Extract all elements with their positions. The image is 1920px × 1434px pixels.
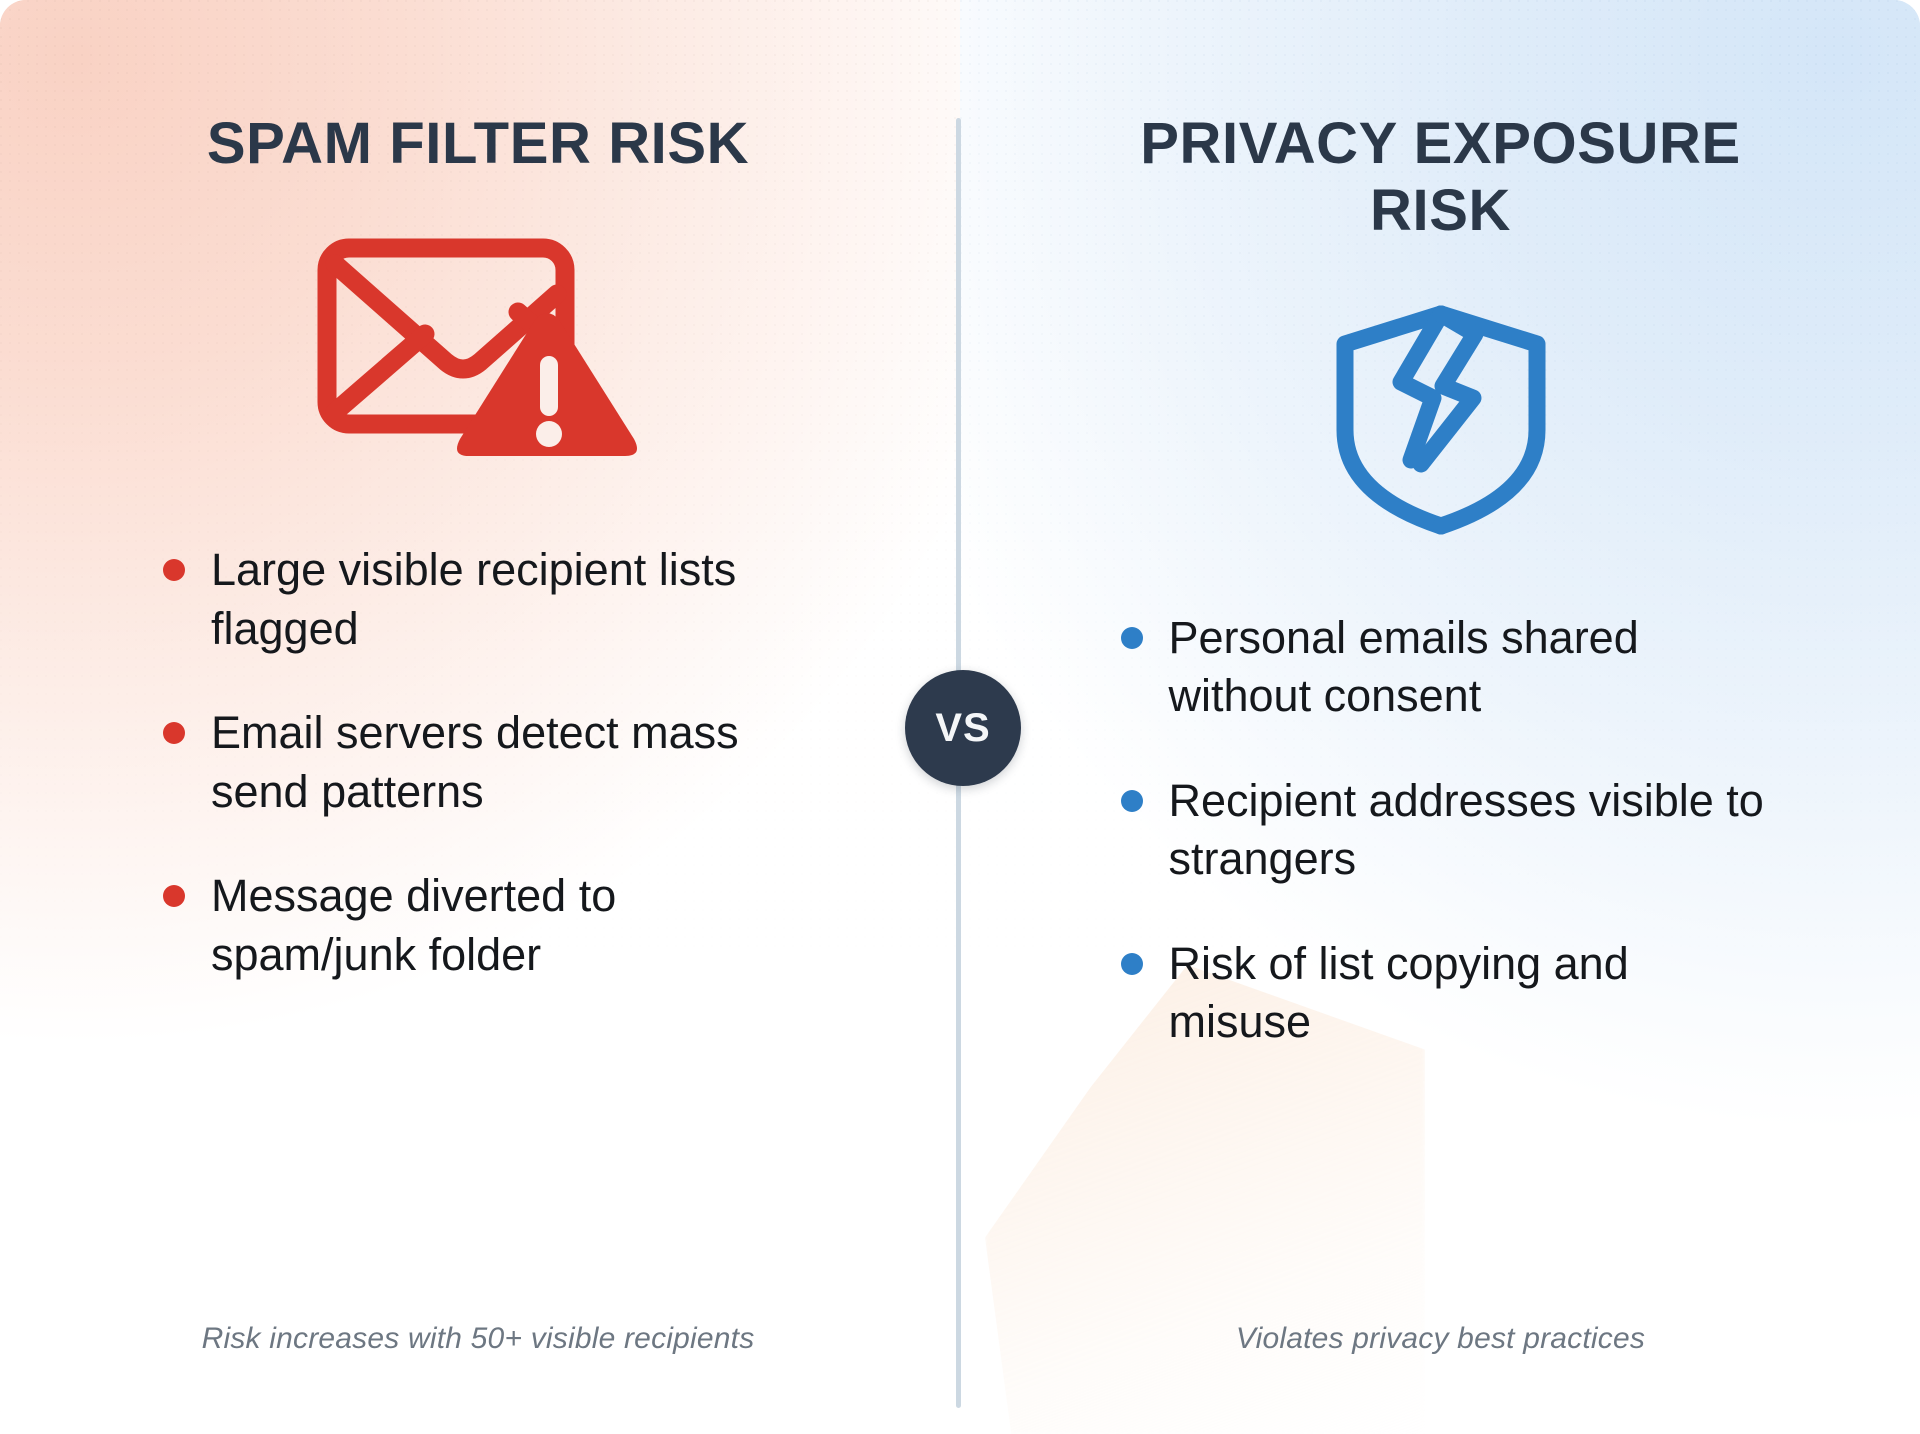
left-column-title: SPAM FILTER RISK (158, 110, 798, 177)
list-item: Large visible recipient lists flagged (163, 541, 803, 658)
bullet-text: Recipient addresses visible to strangers (1169, 772, 1781, 889)
list-item: Email servers detect mass send patterns (163, 704, 803, 821)
left-footnote: Risk increases with 50+ visible recipien… (0, 1322, 956, 1356)
bullet-text: Risk of list copying and misuse (1169, 935, 1781, 1052)
list-item: Personal emails shared without consent (1121, 609, 1781, 726)
bullet-dot-icon (1121, 627, 1143, 649)
list-item: Risk of list copying and misuse (1121, 935, 1781, 1052)
bullet-dot-icon (163, 722, 185, 744)
vs-badge-label: VS (935, 708, 990, 748)
bullet-text: Email servers detect mass send patterns (211, 704, 803, 821)
right-bullet-list: Personal emails shared without consent R… (1121, 609, 1781, 1052)
vs-badge: VS (905, 670, 1021, 786)
bullet-text: Message diverted to spam/junk folder (211, 867, 803, 984)
left-bullet-list: Large visible recipient lists flagged Em… (163, 541, 803, 984)
bullet-text: Large visible recipient lists flagged (211, 541, 803, 658)
comparison-infographic: SPAM FILTER RISK Large visible recipient… (0, 0, 1920, 1434)
left-column: SPAM FILTER RISK Large visible recipient… (0, 0, 956, 1434)
bullet-dot-icon (1121, 953, 1143, 975)
right-column: PRIVACY EXPOSURE RISK Personal emails sh… (961, 0, 1920, 1434)
bullet-dot-icon (163, 559, 185, 581)
envelope-warning-icon (298, 225, 658, 475)
list-item: Message diverted to spam/junk folder (163, 867, 803, 984)
right-footnote: Violates privacy best practices (961, 1322, 1920, 1356)
bullet-dot-icon (163, 885, 185, 907)
bullet-text: Personal emails shared without consent (1169, 609, 1781, 726)
broken-shield-icon (1291, 293, 1591, 543)
bullet-dot-icon (1121, 790, 1143, 812)
right-column-title: PRIVACY EXPOSURE RISK (1081, 110, 1801, 245)
list-item: Recipient addresses visible to strangers (1121, 772, 1781, 889)
